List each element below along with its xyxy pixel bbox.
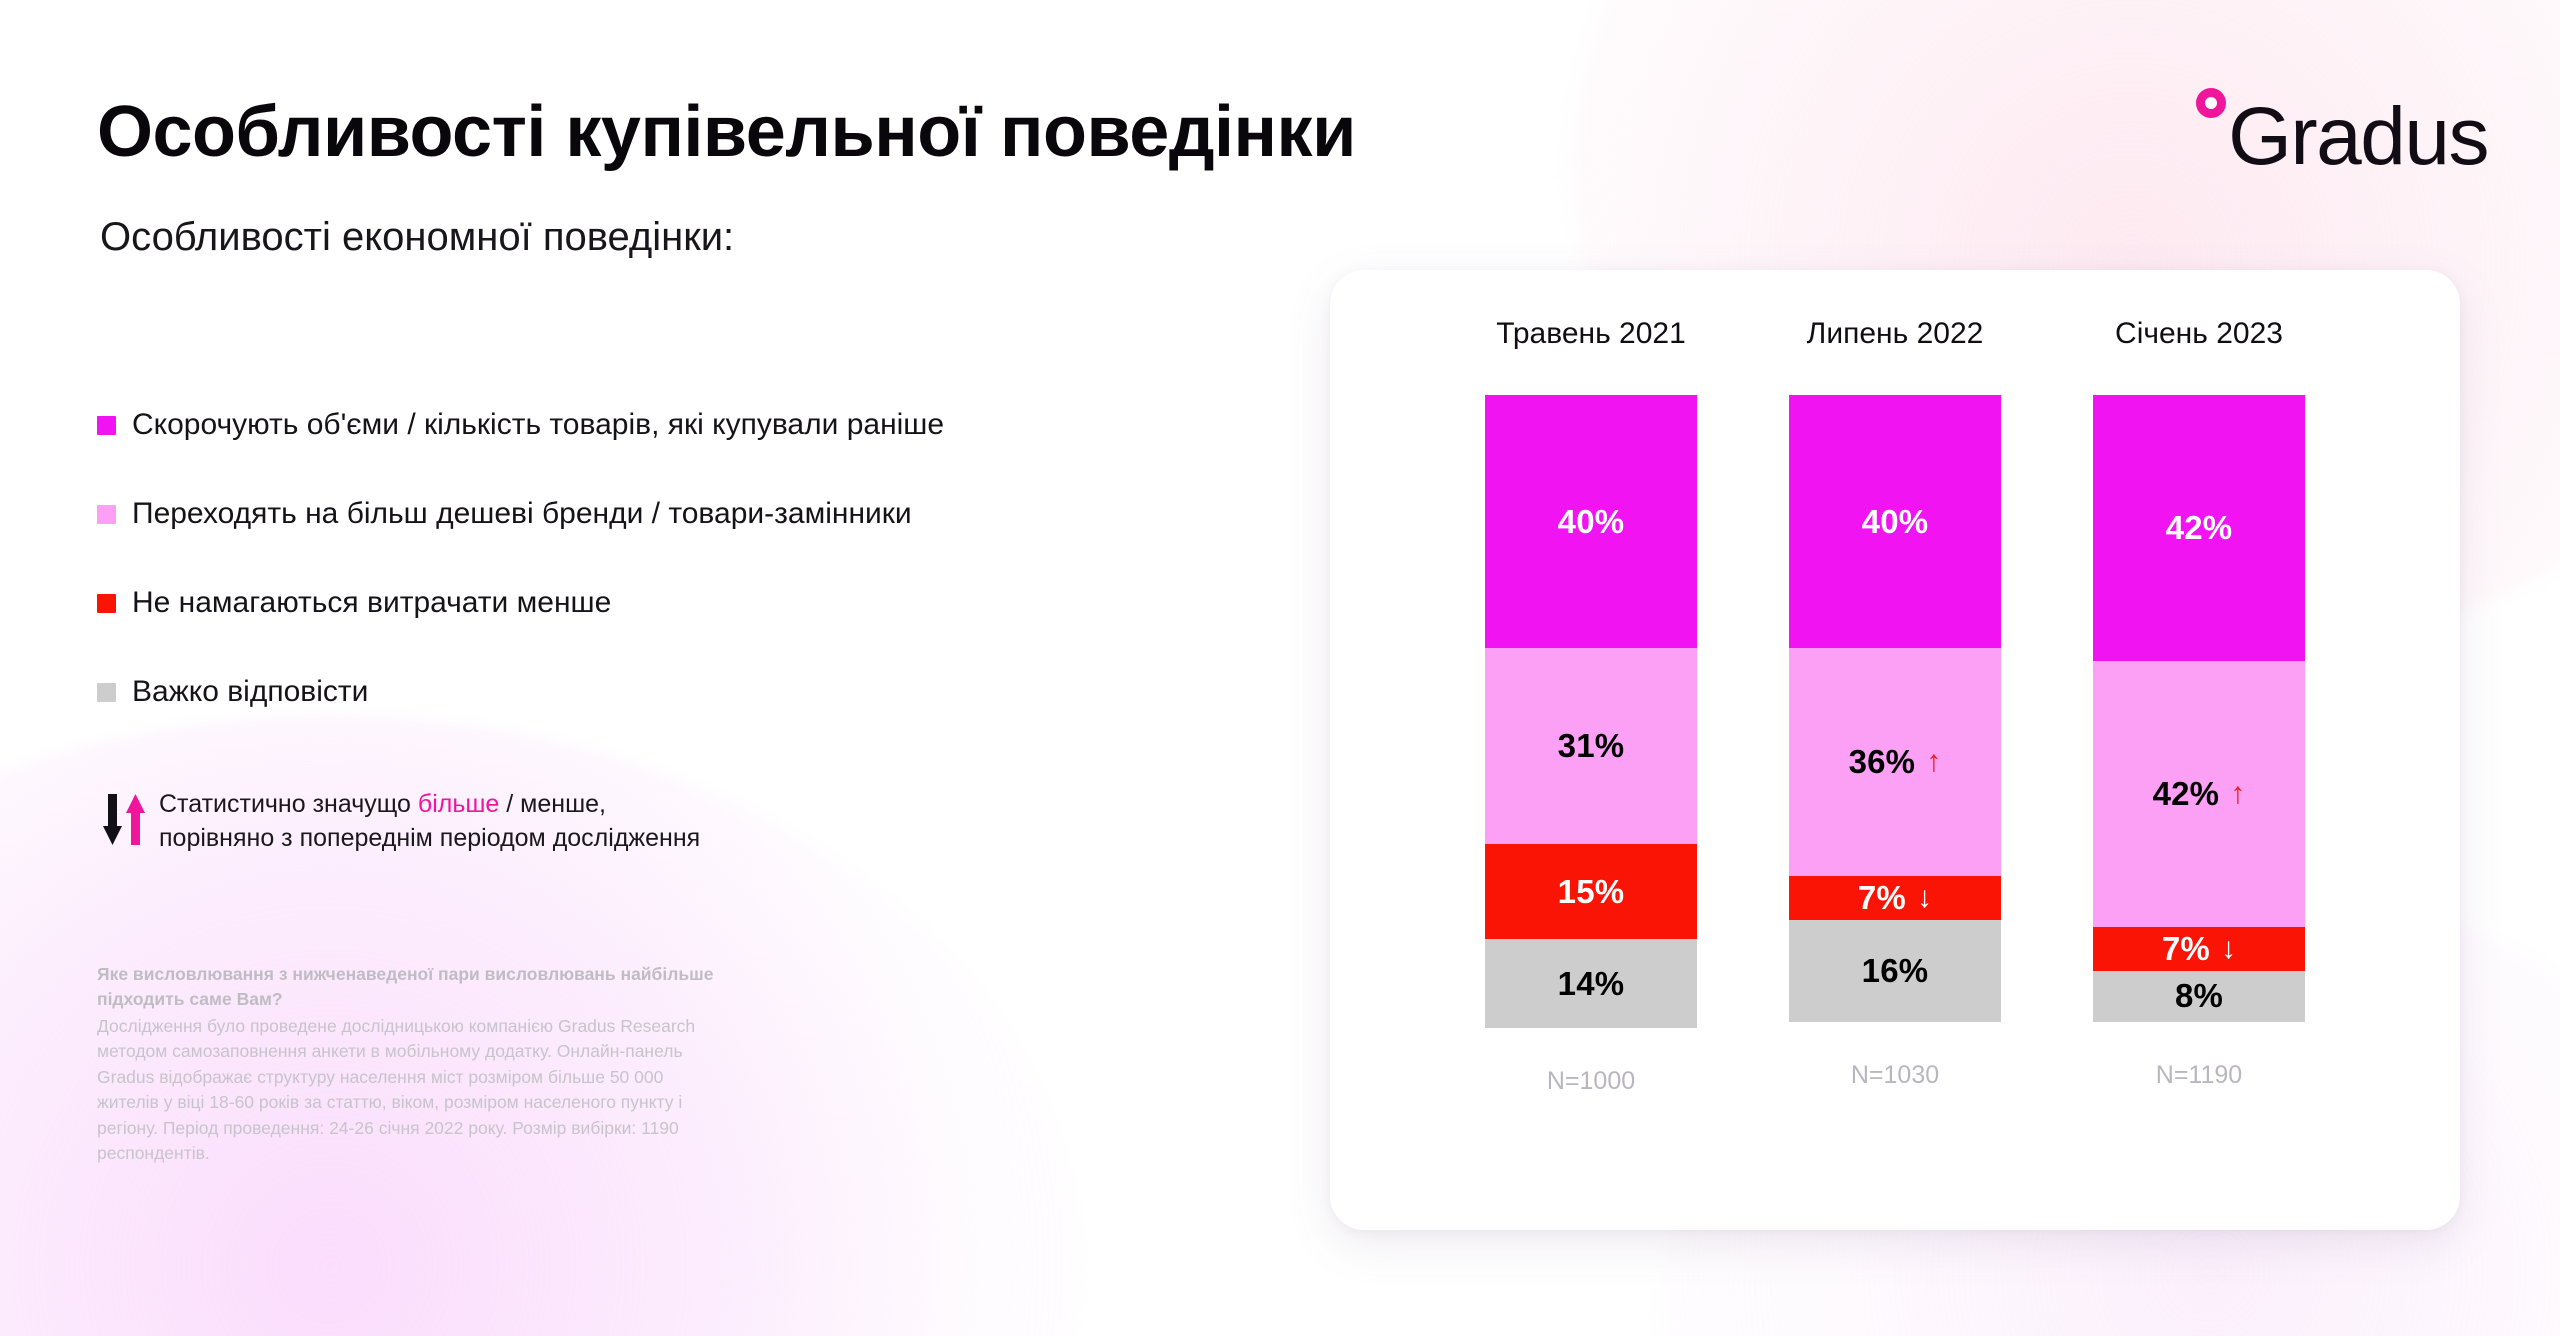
magenta-square-icon — [97, 416, 116, 435]
bar-segment-4[interactable]: 16% — [1789, 920, 2001, 1021]
page-subtitle: Особливості економної поведінки: — [100, 215, 734, 260]
significance-line2: порівняно з попереднім періодом дослідже… — [159, 824, 700, 852]
legend-item-label: Переходять на більш дешеві бренди / това… — [132, 497, 912, 531]
bar-segment-1[interactable]: 42% — [2093, 395, 2305, 661]
bar-segment-2[interactable]: 42%↑ — [2093, 661, 2305, 927]
legend-item-1[interactable]: Скорочують об'єми / кількість товарів, я… — [97, 398, 944, 452]
column-sample-size: N=1030 — [1851, 1061, 1939, 1090]
footnote: Яке висловлювання з нижченаведеної пари … — [97, 962, 717, 1166]
up-down-arrow-icon — [97, 788, 159, 850]
legend-item-4[interactable]: Важко відповісти — [97, 665, 944, 719]
chart-column-2: Липень 202240%36%↑7%↓16%N=1030 — [1789, 317, 2001, 1090]
gray-square-icon — [97, 683, 116, 702]
legend-item-label: Важко відповісти — [132, 675, 368, 709]
significance-note: Статистично значущо більше / менше, порі… — [97, 788, 700, 855]
bar-segment-value: 40% — [1862, 503, 1929, 541]
legend-item-3[interactable]: Не намагаються витрачати менше — [97, 576, 944, 630]
bar-segment-value: 7% — [1858, 879, 1906, 917]
chart-columns: Травень 202140%31%15%14%N=1000Липень 202… — [1330, 270, 2460, 1230]
bar-segment-1[interactable]: 40% — [1789, 395, 2001, 648]
column-header: Липень 2022 — [1807, 317, 1984, 351]
bar-segment-3[interactable]: 15% — [1485, 844, 1697, 939]
significance-highlight: більше — [418, 790, 499, 818]
stacked-bar: 40%31%15%14% — [1485, 395, 1697, 1028]
significance-line1-pre: Статистично значущо — [159, 790, 418, 818]
bar-segment-1[interactable]: 40% — [1485, 395, 1697, 648]
legend-item-label: Скорочують об'єми / кількість товарів, я… — [132, 408, 944, 442]
footnote-method: Дослідження було проведене дослідницькою… — [97, 1014, 717, 1166]
bar-segment-3[interactable]: 7%↓ — [2093, 927, 2305, 971]
chart-card: Травень 202140%31%15%14%N=1000Липень 202… — [1330, 270, 2460, 1230]
brand-logo-text: Gradus — [2228, 99, 2488, 174]
slide-page: Особливості купівельної поведінки Особли… — [0, 0, 2560, 1336]
significance-text: Статистично значущо більше / менше, порі… — [159, 788, 700, 855]
bar-segment-value: 16% — [1862, 952, 1929, 990]
chart-column-3: Січень 202342%42%↑7%↓8%N=1190 — [2093, 317, 2305, 1090]
trend-down-arrow-icon: ↓ — [2221, 934, 2236, 964]
column-header: Травень 2021 — [1496, 317, 1686, 351]
legend-item-label: Не намагаються витрачати менше — [132, 586, 611, 620]
brand-logo: Gradus — [2196, 78, 2488, 174]
trend-up-arrow-icon: ↑ — [1926, 747, 1941, 777]
stacked-bar: 40%36%↑7%↓16% — [1789, 395, 2001, 1022]
legend-item-2[interactable]: Переходять на більш дешеві бренди / това… — [97, 487, 944, 541]
significance-line1-post: / менше, — [499, 790, 606, 818]
bar-segment-value: 36% — [1849, 743, 1916, 781]
bar-segment-value: 14% — [1558, 965, 1625, 1003]
bar-segment-value: 15% — [1558, 873, 1625, 911]
ring-dot-icon — [2196, 88, 2226, 118]
page-title: Особливості купівельної поведінки — [97, 95, 1356, 171]
legend: Скорочують об'єми / кількість товарів, я… — [97, 398, 944, 754]
chart-column-1: Травень 202140%31%15%14%N=1000 — [1485, 317, 1697, 1096]
footnote-question: Яке висловлювання з нижченаведеної пари … — [97, 962, 717, 1011]
pink-square-icon — [97, 505, 116, 524]
trend-down-arrow-icon: ↓ — [1917, 883, 1932, 913]
bar-segment-4[interactable]: 8% — [2093, 971, 2305, 1022]
column-header: Січень 2023 — [2115, 317, 2283, 351]
stacked-bar: 42%42%↑7%↓8% — [2093, 395, 2305, 1022]
bar-segment-value: 31% — [1558, 727, 1625, 765]
bar-segment-value: 42% — [2153, 775, 2220, 813]
bar-segment-4[interactable]: 14% — [1485, 939, 1697, 1028]
bar-segment-3[interactable]: 7%↓ — [1789, 876, 2001, 920]
bar-segment-value: 7% — [2162, 930, 2210, 968]
trend-up-arrow-icon: ↑ — [2230, 779, 2245, 809]
red-square-icon — [97, 594, 116, 613]
bar-segment-2[interactable]: 31% — [1485, 648, 1697, 844]
column-sample-size: N=1190 — [2156, 1061, 2242, 1090]
bar-segment-value: 42% — [2166, 509, 2233, 547]
column-sample-size: N=1000 — [1547, 1067, 1635, 1096]
bar-segment-value: 8% — [2175, 977, 2223, 1015]
bar-segment-2[interactable]: 36%↑ — [1789, 648, 2001, 876]
bar-segment-value: 40% — [1558, 503, 1625, 541]
